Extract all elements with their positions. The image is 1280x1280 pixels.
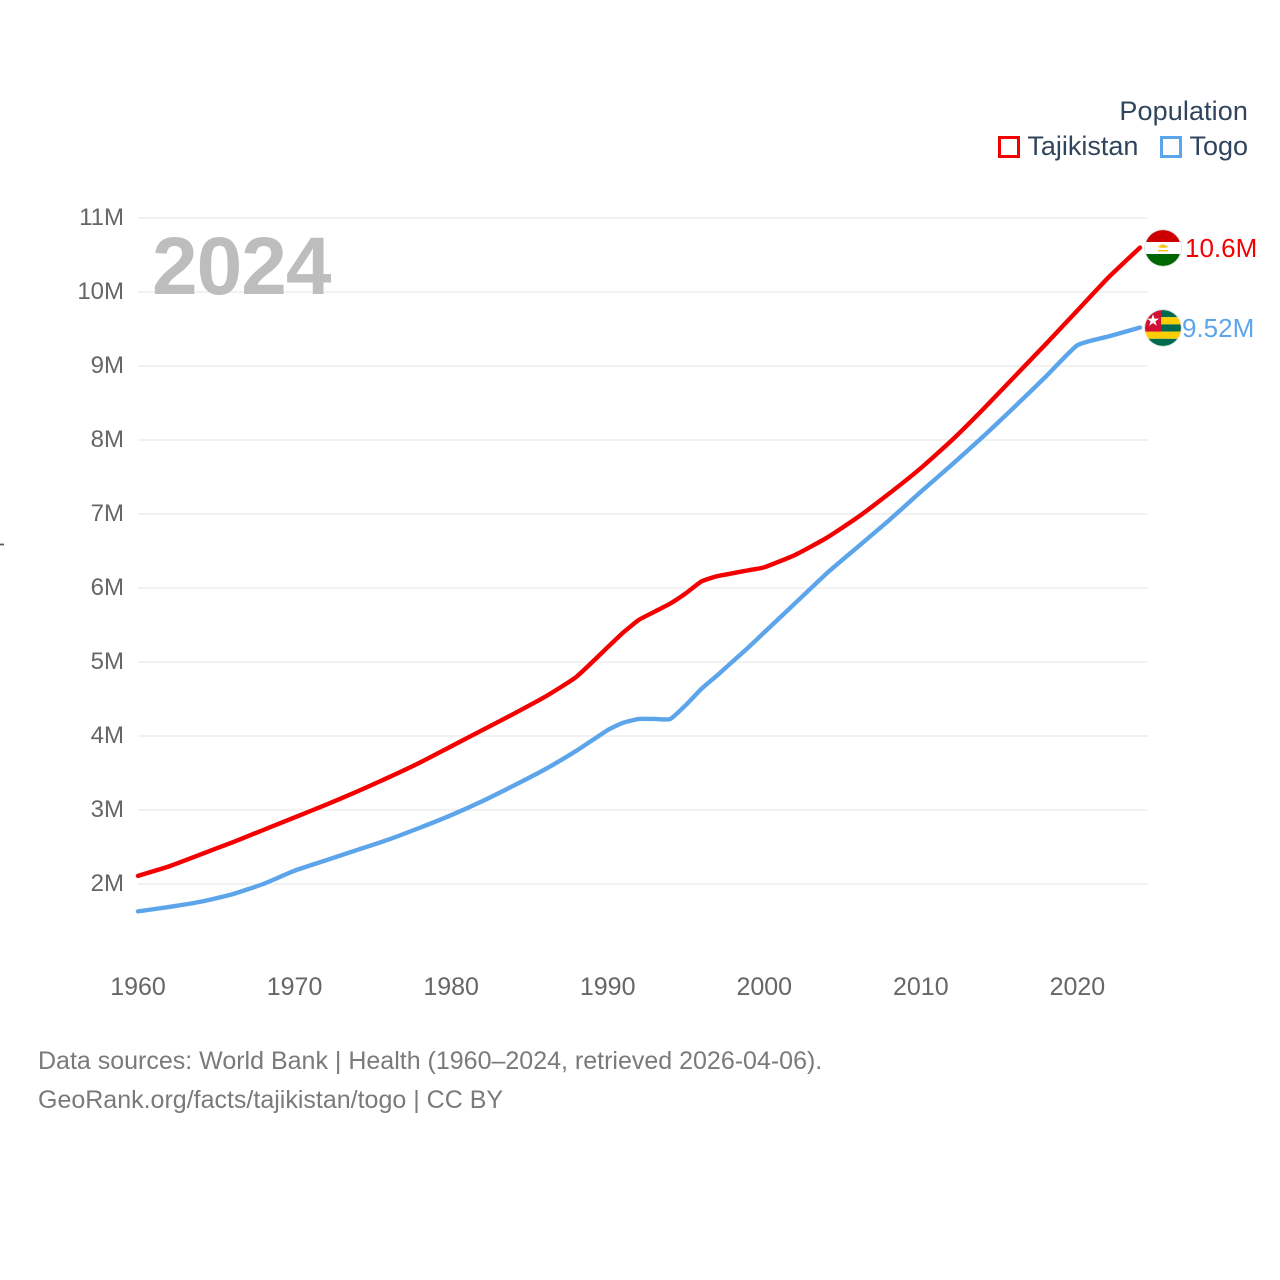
x-axis-tick-label: 2000 — [736, 975, 792, 1000]
legend-item-tajikistan[interactable]: Tajikistan — [998, 133, 1138, 160]
legend-title: Population — [998, 96, 1248, 127]
x-axis-tick-label: 1990 — [580, 975, 636, 1000]
year-watermark: 2024 — [152, 226, 330, 308]
tajikistan-endpoint-label: 10.6M — [1185, 235, 1257, 261]
footer-line-2: GeoRank.org/facts/tajikistan/togo | CC B… — [38, 1081, 822, 1120]
x-axis-tick-label: 2010 — [893, 975, 949, 1000]
x-axis-tick-label: 2020 — [1050, 975, 1106, 1000]
population-line-chart: 2M3M4M5M6M7M8M9M10M11M 19601970198019902… — [0, 0, 1280, 1280]
footer-attribution: Data sources: World Bank | Health (1960–… — [38, 1042, 822, 1120]
y-axis-tick-label: 2M — [26, 872, 124, 896]
legend-swatch-icon — [998, 136, 1020, 158]
series-line-tajikistan — [138, 248, 1140, 876]
series-lines — [138, 248, 1140, 912]
togo-endpoint-label: 9.52M — [1182, 315, 1254, 341]
x-axis-tick-label: 1970 — [267, 975, 323, 1000]
legend: Population Tajikistan Togo — [998, 96, 1248, 160]
y-axis-tick-label: 8M — [26, 428, 124, 452]
y-axis-tick-label: 11M — [26, 206, 124, 230]
y-axis-title: Population — [0, 455, 6, 595]
x-axis-tick-label: 1980 — [423, 975, 479, 1000]
x-axis-tick-label: 1960 — [110, 975, 166, 1000]
y-axis-tick-label: 9M — [26, 354, 124, 378]
y-axis-tick-label: 4M — [26, 724, 124, 748]
gridlines — [138, 218, 1148, 884]
legend-item-togo[interactable]: Togo — [1160, 133, 1248, 160]
legend-items: Tajikistan Togo — [998, 133, 1248, 160]
tajikistan-flag-icon — [1145, 230, 1181, 266]
y-axis-tick-label: 3M — [26, 798, 124, 822]
y-axis-tick-label: 7M — [26, 502, 124, 526]
y-axis-tick-label: 6M — [26, 576, 124, 600]
legend-item-label: Togo — [1189, 133, 1248, 160]
y-axis-tick-label: 10M — [26, 280, 124, 304]
footer-line-1: Data sources: World Bank | Health (1960–… — [38, 1042, 822, 1081]
legend-swatch-icon — [1160, 136, 1182, 158]
togo-flag-icon — [1145, 310, 1181, 346]
legend-item-label: Tajikistan — [1027, 133, 1138, 160]
y-axis-tick-label: 5M — [26, 650, 124, 674]
